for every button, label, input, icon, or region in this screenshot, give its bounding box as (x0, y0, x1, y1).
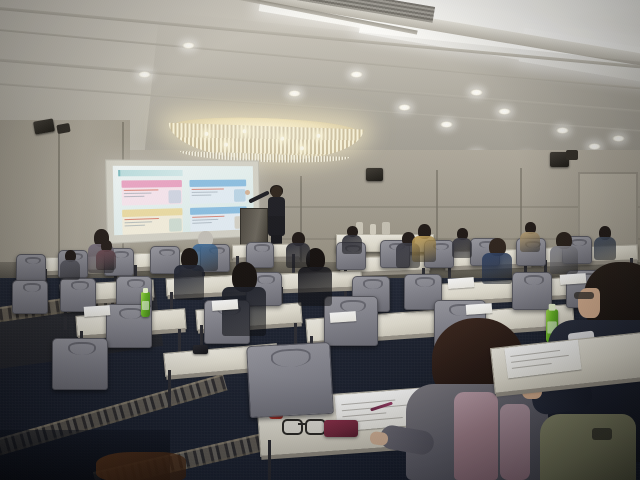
glass-icon (370, 224, 376, 235)
chair-notch (71, 281, 90, 290)
pitcher-icon (382, 222, 390, 235)
attendee-long-hair-left (174, 248, 204, 300)
chair-notch (159, 249, 175, 257)
presentation-slide (113, 166, 254, 236)
table-leg (268, 440, 271, 480)
slide-block-text (192, 188, 238, 197)
slide-block-header (189, 180, 246, 187)
slide-block-bottom-left (122, 208, 183, 235)
torso (520, 232, 540, 252)
projection-screen (105, 159, 260, 244)
torso (482, 253, 512, 284)
attendee-center-row2 (520, 222, 540, 252)
handout-paper[interactable] (466, 303, 493, 315)
attendee-chair[interactable] (52, 338, 108, 390)
torso (222, 287, 266, 336)
chair-notch (415, 277, 435, 286)
slide-block-header (121, 180, 181, 188)
slide-illustration-icon (234, 189, 246, 202)
slide-block-text (124, 189, 173, 199)
slide-block-header (190, 206, 247, 215)
torso (594, 237, 616, 260)
green-tea-bottle[interactable] (141, 292, 150, 317)
ceiling-downlight (398, 104, 411, 111)
chair-notch (119, 308, 142, 319)
maroon-pouch[interactable] (324, 420, 358, 437)
handout-paper[interactable] (212, 299, 239, 311)
attendee-row1-far (342, 226, 362, 254)
slide-title-bar (118, 170, 183, 176)
lens (282, 419, 303, 435)
foreground-chair[interactable] (246, 342, 334, 418)
slide-block-bottom-right (190, 206, 247, 231)
slide-illustration-icon (169, 218, 182, 232)
lens (305, 419, 326, 435)
handout-paper[interactable] (448, 277, 475, 289)
khaki-bag[interactable] (540, 414, 636, 480)
slide-block-text (192, 215, 238, 225)
ceiling-downlight (470, 89, 483, 96)
scarf (454, 392, 498, 480)
chair-notch (25, 257, 41, 265)
torso (412, 236, 436, 262)
ceiling-downlight (138, 71, 151, 78)
ceiling-downlight (440, 121, 453, 128)
ceiling-speaker-icon (566, 150, 578, 160)
torso (342, 235, 362, 254)
attendee-red-top (96, 240, 116, 270)
attendee-blue-shirt (482, 238, 512, 284)
attendee-chair[interactable] (12, 280, 48, 314)
chair-notch (363, 279, 383, 288)
glasses-icon (574, 292, 594, 299)
chair-notch (127, 279, 146, 288)
ceiling-downlight (350, 71, 363, 78)
torso (174, 265, 204, 300)
slide-block-text (124, 217, 173, 228)
foreground-bag (96, 452, 186, 480)
chair-notch (68, 342, 96, 355)
smartphone[interactable] (193, 345, 208, 354)
torso (286, 243, 310, 268)
bag-clasp-icon (592, 428, 612, 440)
ceiling-downlight (556, 127, 569, 134)
chair-notch (254, 244, 269, 251)
attendee-far-left-seated (60, 250, 80, 280)
seminar-room-photo (0, 0, 640, 480)
attendee-mustard-jacket (412, 224, 436, 262)
torso (96, 250, 116, 270)
hand (369, 431, 389, 446)
ceiling-downlight (288, 90, 301, 97)
chandelier-sparkle (280, 137, 284, 141)
scarf (500, 404, 530, 480)
attendee-back-right (594, 226, 616, 260)
ceiling-downlight (588, 143, 601, 150)
chair-notch (23, 283, 42, 292)
torso (60, 260, 80, 280)
ceiling-speaker-icon (366, 168, 383, 181)
attendee-row1-right (452, 228, 472, 258)
presenter-hand (245, 190, 250, 195)
slide-illustration-icon (168, 190, 181, 203)
table-leg (168, 370, 171, 408)
ceiling-downlight (182, 42, 195, 49)
chair-notch (270, 348, 311, 367)
slide-block-top-left (121, 180, 182, 206)
handout-paper[interactable] (84, 305, 111, 317)
torso (452, 238, 472, 258)
slide-block-top-right (189, 180, 246, 204)
torso (298, 267, 332, 306)
handout-paper[interactable] (330, 311, 357, 323)
ceiling-downlight (498, 108, 511, 115)
slide-block-header (122, 208, 182, 217)
attendee-mid-right (286, 232, 310, 268)
ceiling-downlight (612, 135, 625, 142)
presenter-torso (268, 197, 285, 218)
attendee-chair[interactable] (16, 254, 46, 282)
presenter-skirt (268, 216, 285, 236)
eyeglasses[interactable] (282, 419, 322, 432)
